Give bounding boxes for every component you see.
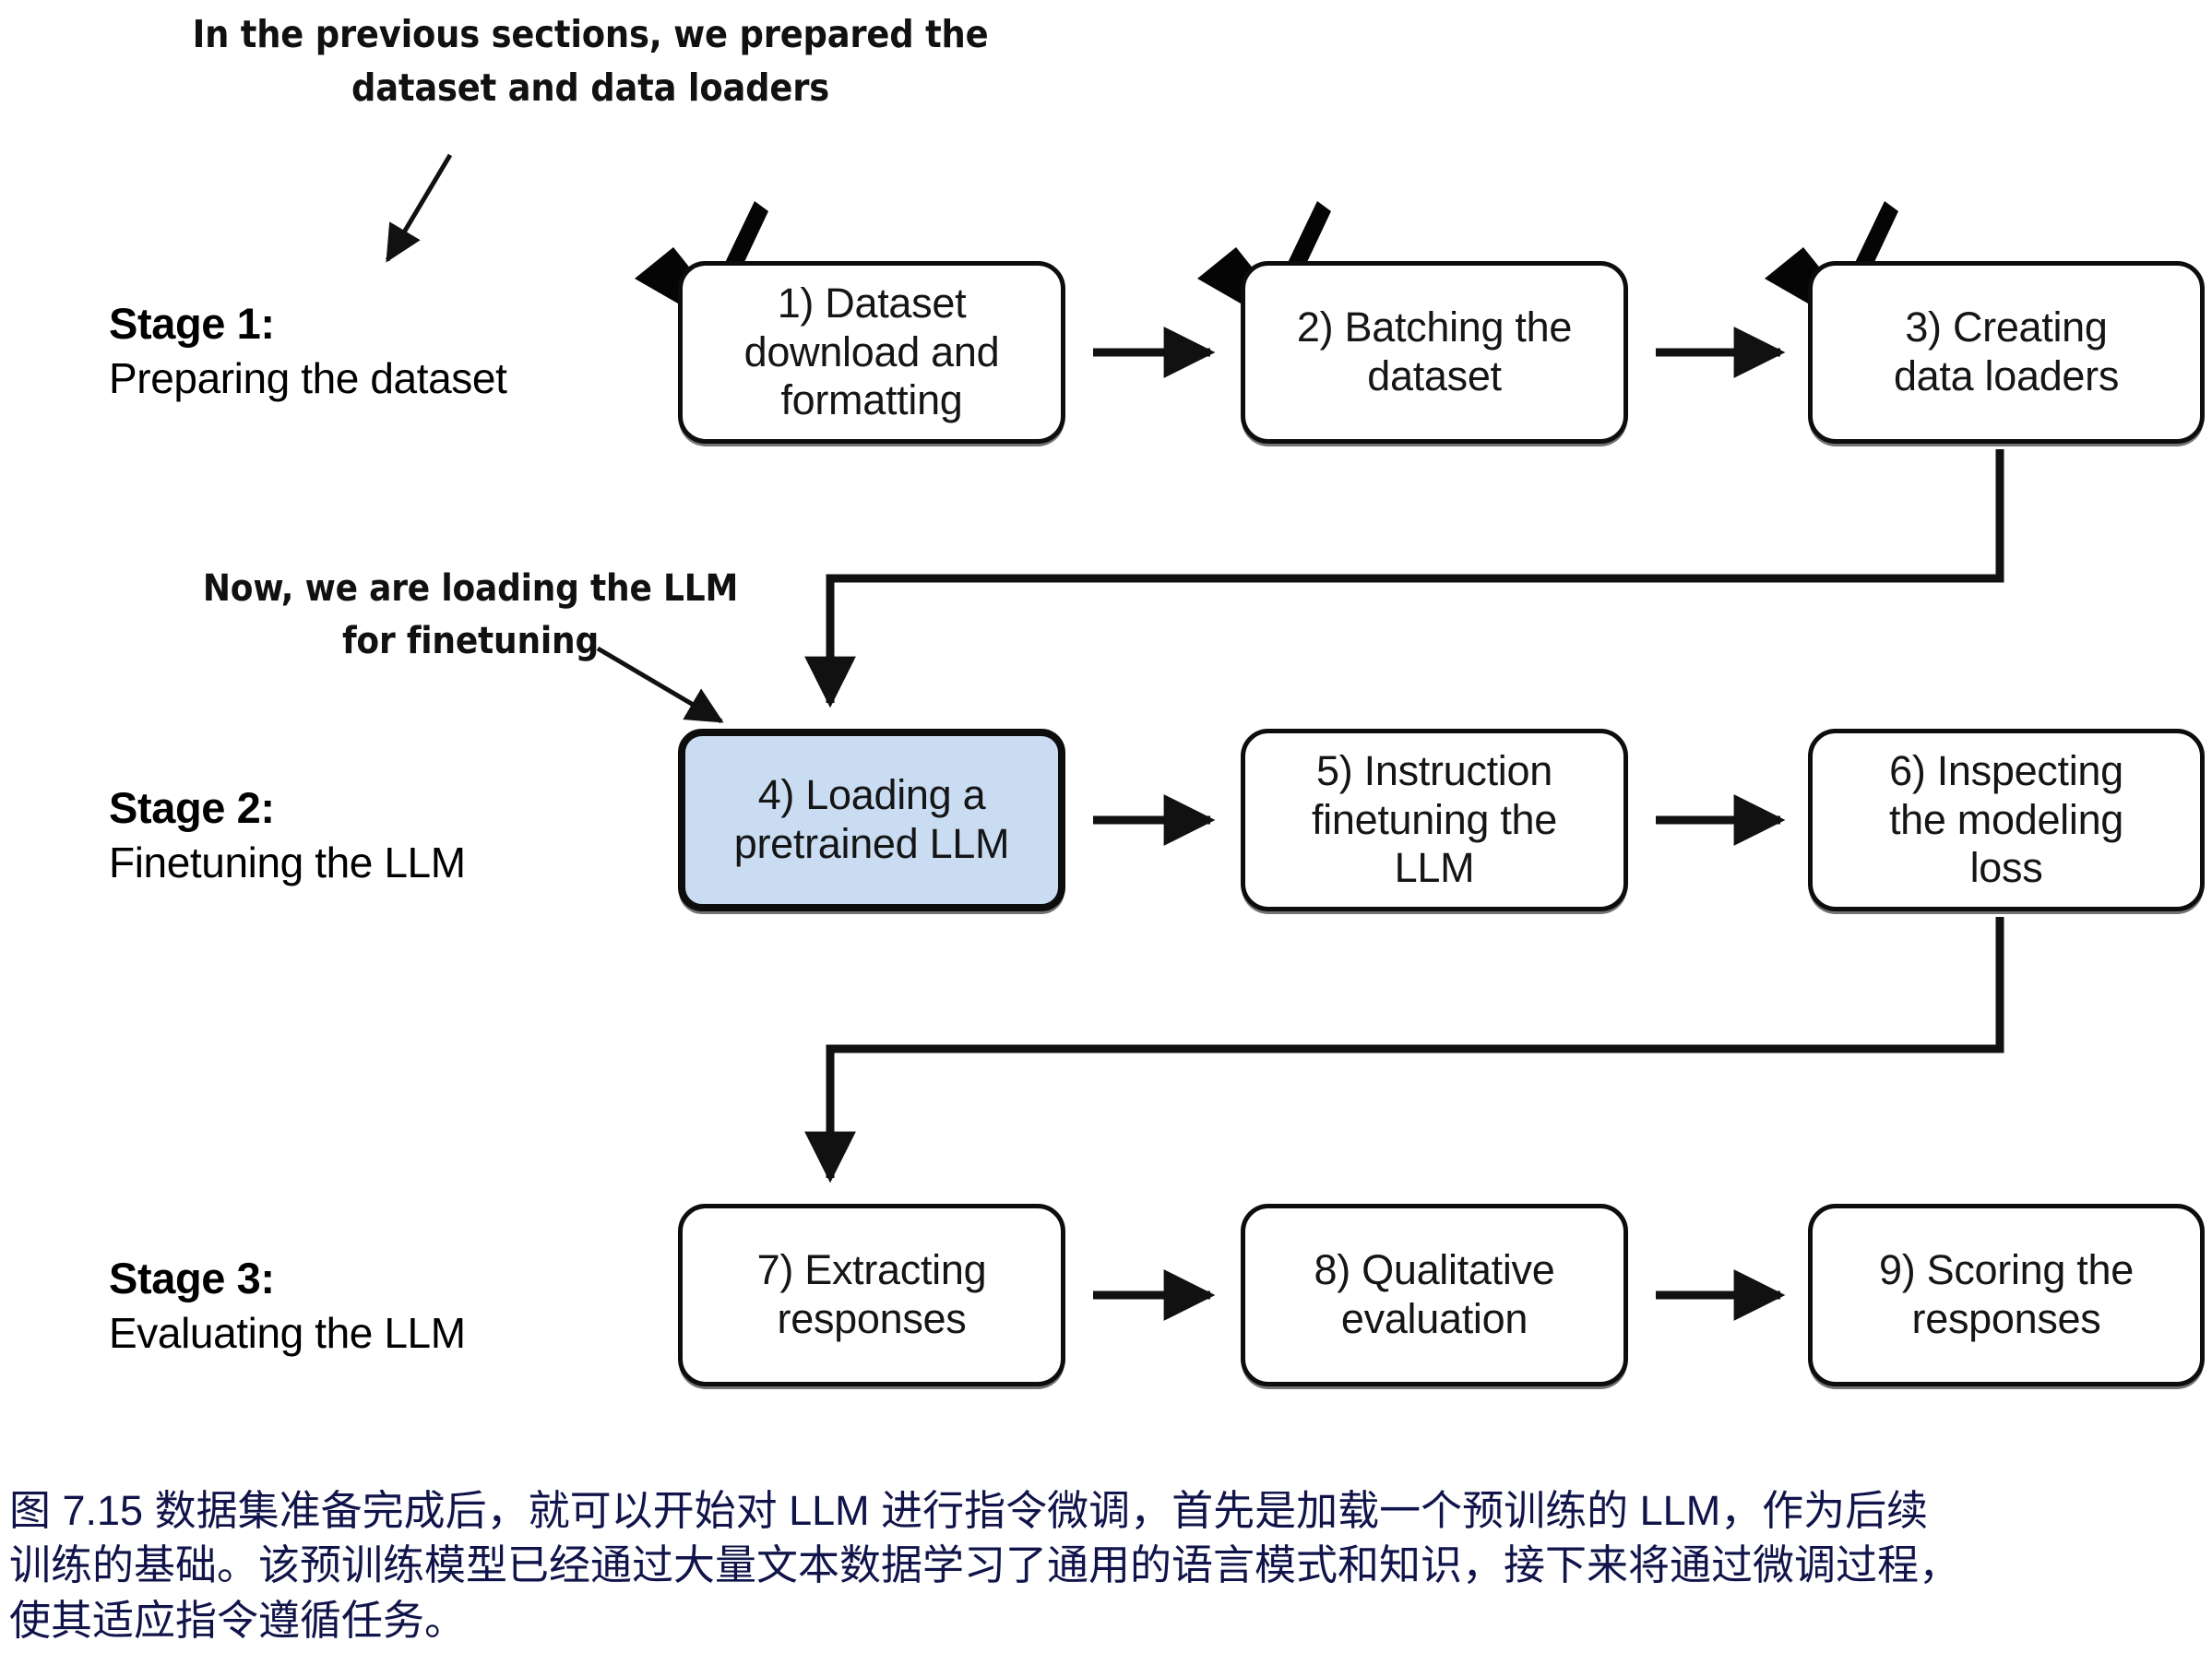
flow-step-8[interactable]: 8) Qualitative evaluation: [1241, 1204, 1628, 1386]
stage-2-subtitle: Finetuning the LLM: [109, 836, 662, 891]
caption-line-2: 训练的基础。该预训练模型已经通过大量文本数据学习了通用的语言模式和知识，接下来将…: [9, 1538, 2209, 1592]
stage-3-title: Stage 3:: [109, 1250, 662, 1306]
stage-2-title: Stage 2:: [109, 779, 662, 836]
flow-step-2[interactable]: 2) Batching the dataset: [1241, 261, 1628, 444]
flow-step-7[interactable]: 7) Extracting responses: [678, 1204, 1065, 1386]
stage-1-title: Stage 1:: [109, 295, 662, 351]
stage-3-subtitle: Evaluating the LLM: [109, 1306, 662, 1362]
figure-caption: 图 7.15 数据集准备完成后，就可以开始对 LLM 进行指令微调，首先是加载一…: [9, 1483, 2209, 1647]
stage-label-2: Stage 2: Finetuning the LLM: [109, 779, 662, 891]
annotation-loading-llm: Now, we are loading the LLM for finetuni…: [175, 563, 766, 668]
flow-step-3[interactable]: 3) Creating data loaders: [1808, 261, 2205, 444]
flow-step-5[interactable]: 5) Instruction finetuning the LLM: [1241, 729, 1628, 911]
flow-step-9[interactable]: 9) Scoring the responses: [1808, 1204, 2205, 1386]
flow-step-1[interactable]: 1) Dataset download and formatting: [678, 261, 1065, 444]
stage-label-1: Stage 1: Preparing the dataset: [109, 295, 662, 407]
annotation-arrow-1: [387, 155, 450, 260]
caption-line-1: 图 7.15 数据集准备完成后，就可以开始对 LLM 进行指令微调，首先是加载一…: [9, 1483, 2209, 1538]
annotation-previous-sections: In the previous sections, we prepared th…: [184, 7, 996, 114]
stage-label-3: Stage 3: Evaluating the LLM: [109, 1250, 662, 1362]
flow-step-4[interactable]: 4) Loading a pretrained LLM: [678, 729, 1065, 911]
caption-line-3: 使其适应指令遵循任务。: [9, 1593, 2209, 1647]
stage-1-subtitle: Preparing the dataset: [109, 351, 662, 407]
connector-stage2-to-stage3: [830, 917, 2000, 1178]
flow-step-6[interactable]: 6) Inspecting the modeling loss: [1808, 729, 2205, 911]
connector-stage1-to-stage2: [830, 449, 2000, 703]
